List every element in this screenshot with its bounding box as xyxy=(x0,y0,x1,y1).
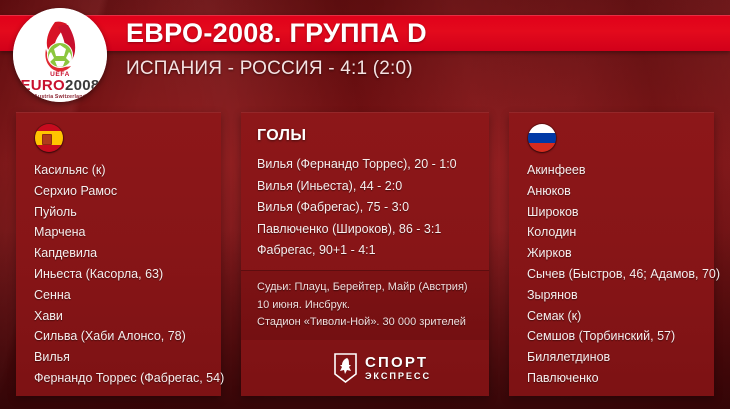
sport-express-wordmark: СПОРТ ЭКСПРЕСС xyxy=(365,355,431,381)
euro-2008-logo: UEFA EURO2008 Austria Switzerland xyxy=(13,8,107,102)
list-item: Фернандо Торрес (Фабрегас, 54) xyxy=(34,368,211,389)
list-item: Вилья (Фернандо Торрес), 20 - 1:0 xyxy=(257,154,481,176)
match-result-subtitle: ИСПАНИЯ - РОССИЯ - 4:1 (2:0) xyxy=(126,58,413,80)
list-item: Колодин xyxy=(527,222,704,243)
list-item: Билялетдинов xyxy=(527,347,704,368)
date-city-line: 10 июня. Инсбрук. xyxy=(241,297,489,315)
list-item: Пуйоль xyxy=(34,202,211,223)
spain-flag-icon xyxy=(35,124,63,152)
list-item: Семак (к) xyxy=(527,306,704,327)
list-item: Сильва (Хаби Алонсо, 78) xyxy=(34,326,211,347)
goals-list: Вилья (Фернандо Торрес), 20 - 1:0 Вилья … xyxy=(257,154,481,262)
match-info-box: Судьи: Плауц, Берейтер, Майр (Австрия) 1… xyxy=(241,270,489,340)
russia-lineup-panel: Акинфеев Анюков Широков Колодин Жирков С… xyxy=(509,112,714,396)
list-item: Широков xyxy=(527,202,704,223)
list-item: Жирков xyxy=(527,243,704,264)
list-item: Сенна xyxy=(34,285,211,306)
list-item: Касильяс (к) xyxy=(34,160,211,181)
list-item: Сычев (Быстров, 46; Адамов, 70) xyxy=(527,264,704,285)
list-item: Павлюченко (Широков), 86 - 3:1 xyxy=(257,219,481,241)
sport-express-shield-icon xyxy=(333,353,358,383)
goals-heading: ГОЛЫ xyxy=(257,127,306,145)
sport-express-logo: СПОРТ ЭКСПРЕСС xyxy=(333,351,438,385)
list-item: Вилья xyxy=(34,347,211,368)
euro2008-match-graphic: UEFA EURO2008 Austria Switzerland ЕВРО-2… xyxy=(0,0,730,409)
referees-line: Судьи: Плауц, Берейтер, Майр (Австрия) xyxy=(241,270,489,297)
russia-lineup-list: Акинфеев Анюков Широков Колодин Жирков С… xyxy=(527,160,704,389)
list-item: Хави xyxy=(34,306,211,327)
brand-line-1: СПОРТ xyxy=(365,355,431,370)
list-item: Капдевила xyxy=(34,243,211,264)
list-item: Акинфеев xyxy=(527,160,704,181)
list-item: Вилья (Иньеста), 44 - 2:0 xyxy=(257,176,481,198)
list-item: Зырянов xyxy=(527,285,704,306)
list-item: Анюков xyxy=(527,181,704,202)
svg-text:EURO2008: EURO2008 xyxy=(20,77,99,94)
euro-2008-logo-graphic: UEFA EURO2008 Austria Switzerland xyxy=(13,8,107,102)
list-item: Павлюченко xyxy=(527,368,704,389)
list-item: Вилья (Фабрегас), 75 - 3:0 xyxy=(257,197,481,219)
page-title: ЕВРО-2008. ГРУППА D xyxy=(126,16,427,50)
list-item: Марчена xyxy=(34,222,211,243)
list-item: Серхио Рамос xyxy=(34,181,211,202)
spain-lineup-panel: Касильяс (к) Серхио Рамос Пуйоль Марчена… xyxy=(16,112,221,396)
russia-flag-icon xyxy=(528,124,556,152)
list-item: Иньеста (Касорла, 63) xyxy=(34,264,211,285)
list-item: Семшов (Торбинский, 57) xyxy=(527,326,704,347)
brand-line-2: ЭКСПРЕСС xyxy=(365,372,431,381)
spain-lineup-list: Касильяс (к) Серхио Рамос Пуйоль Марчена… xyxy=(34,160,211,389)
list-item: Фабрегас, 90+1 - 4:1 xyxy=(257,240,481,262)
stadium-attendance-line: Стадион «Тиволи-Ной». 30 000 зрителей xyxy=(241,314,489,332)
